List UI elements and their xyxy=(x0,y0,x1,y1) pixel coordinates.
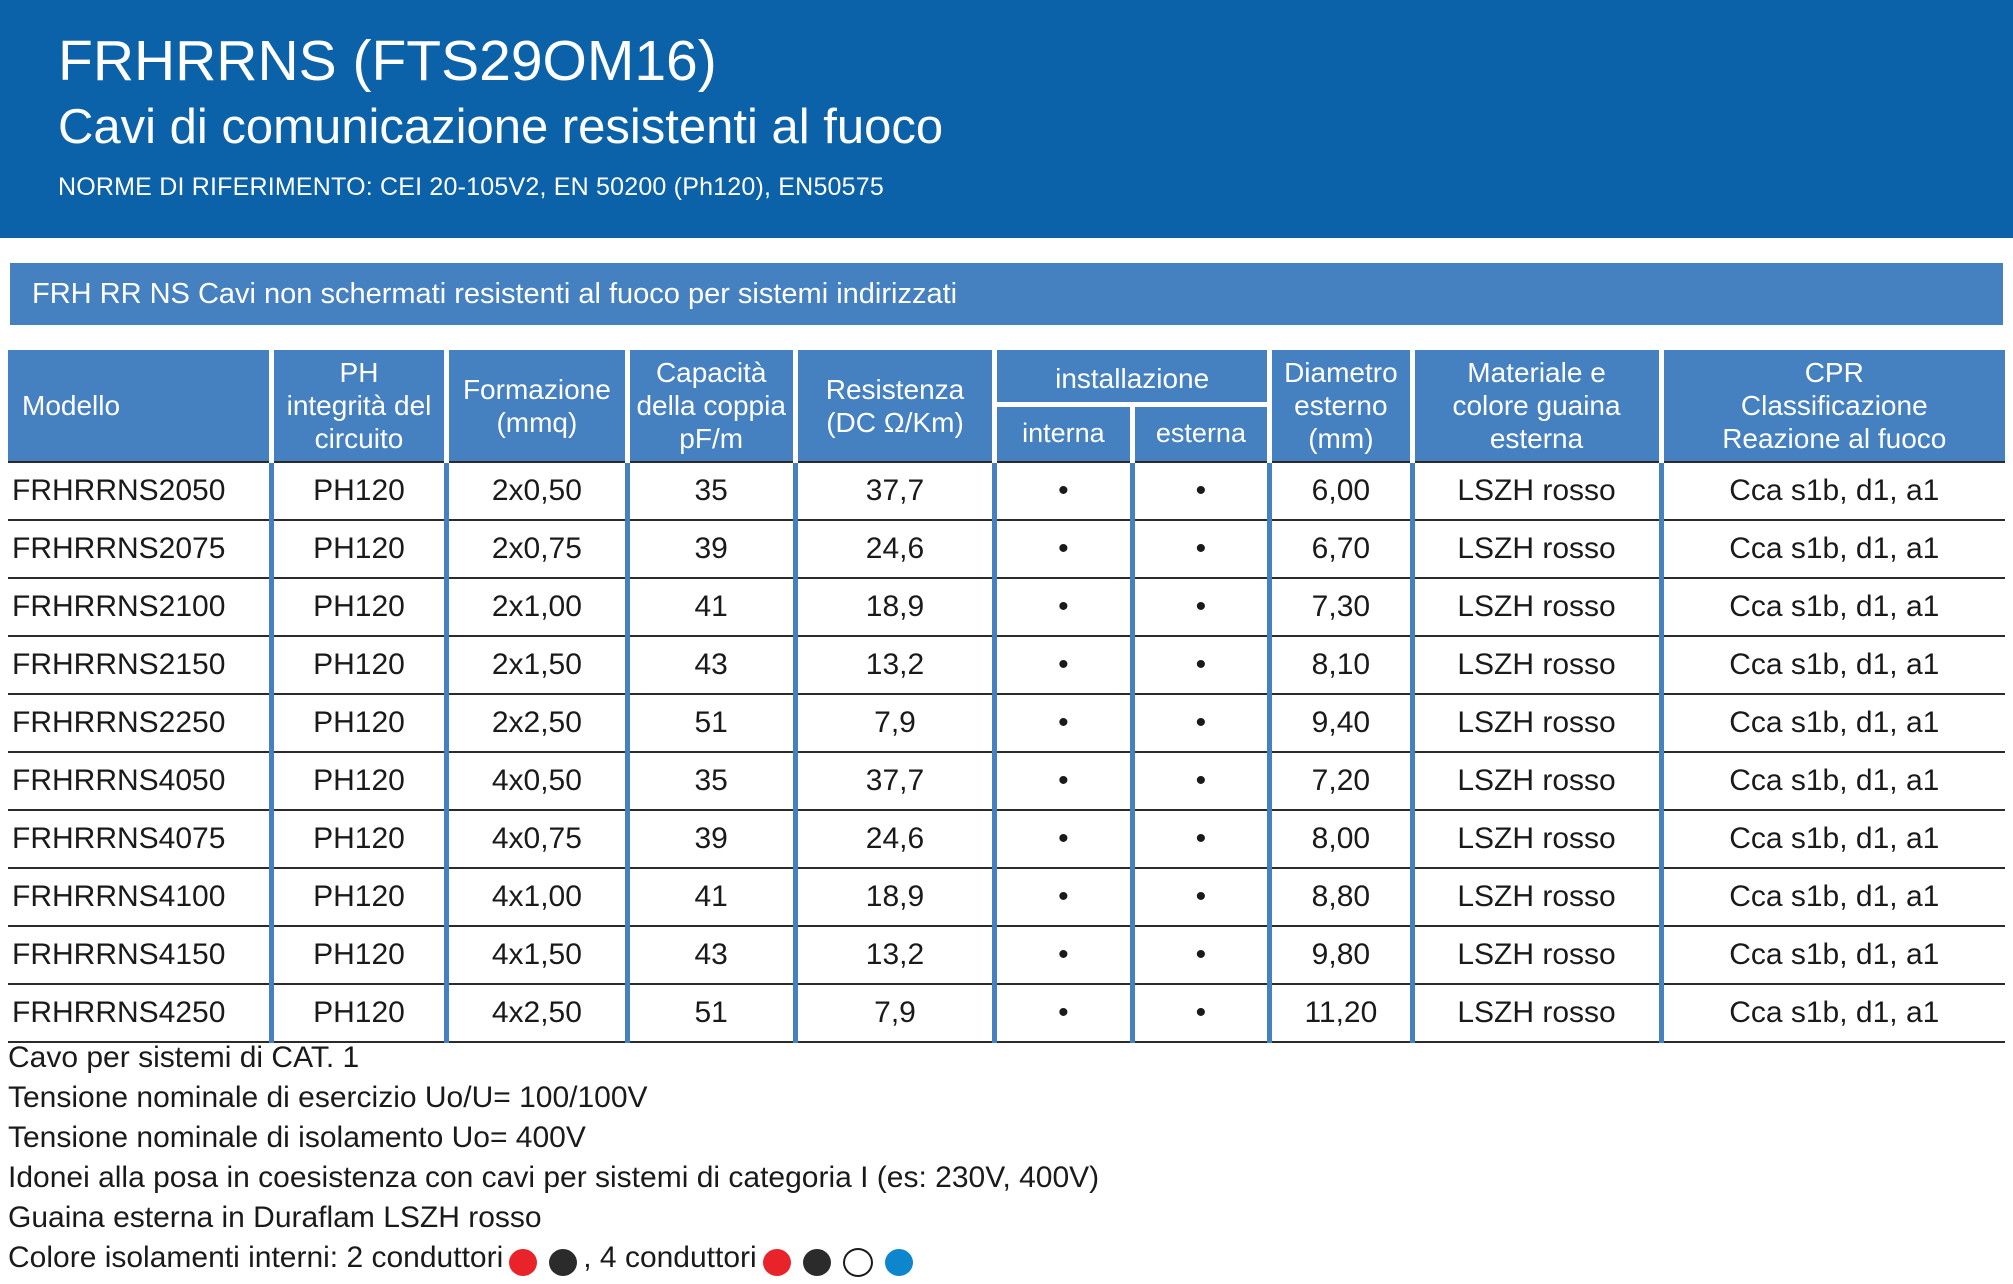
cell-diametro: 9,40 xyxy=(1270,694,1412,752)
cell-materiale: LSZH rosso xyxy=(1412,520,1661,578)
conductor-color-dot-red xyxy=(509,1249,537,1276)
col-header-capacita-line1: Capacità xyxy=(632,356,791,389)
cell-ph: PH120 xyxy=(271,462,447,520)
table-head: Modello PH integrità del circuito Formaz… xyxy=(8,350,2005,462)
cell-cpr: Cca s1b, d1, a1 xyxy=(1661,868,2005,926)
conductor-color-dot-white xyxy=(843,1248,873,1277)
cell-interna: • xyxy=(995,636,1133,694)
installation-dot-icon: • xyxy=(1058,532,1069,565)
installation-dot-icon: • xyxy=(1196,938,1207,971)
note-line-1: Cavo per sistemi di CAT. 1 xyxy=(8,1038,1998,1078)
cell-esterna: • xyxy=(1132,462,1270,520)
installation-dot-icon: • xyxy=(1196,822,1207,855)
col-header-materiale-line3: esterna xyxy=(1417,422,1657,455)
conductor-color-dot-black xyxy=(549,1249,577,1276)
cell-capacita: 39 xyxy=(627,520,795,578)
note-conductor-colors-prefix: Colore isolamenti interni: 2 conduttori xyxy=(8,1241,503,1274)
col-header-materiale: Materiale e colore guaina esterna xyxy=(1412,350,1661,462)
cell-interna: • xyxy=(995,520,1133,578)
cell-interna: • xyxy=(995,926,1133,984)
cell-formazione: 2x2,50 xyxy=(447,694,627,752)
cell-materiale: LSZH rosso xyxy=(1412,694,1661,752)
cell-modello: FRHRRNS4150 xyxy=(8,926,271,984)
cell-diametro: 6,00 xyxy=(1270,462,1412,520)
table-row: FRHRRNS2150PH1202x1,504313,2••8,10LSZH r… xyxy=(8,636,2005,694)
cell-resistenza: 13,2 xyxy=(795,636,994,694)
col-header-modello-label: Modello xyxy=(22,390,120,421)
cell-cpr: Cca s1b, d1, a1 xyxy=(1661,694,2005,752)
cell-esterna: • xyxy=(1132,520,1270,578)
col-header-resistenza: Resistenza (DC Ω/Km) xyxy=(795,350,994,462)
col-header-materiale-line1: Materiale e xyxy=(1417,356,1657,389)
cell-cpr: Cca s1b, d1, a1 xyxy=(1661,810,2005,868)
notes-block: Cavo per sistemi di CAT. 1 Tensione nomi… xyxy=(8,1038,1998,1281)
spec-table-container: Modello PH integrità del circuito Formaz… xyxy=(8,350,2005,1043)
cell-interna: • xyxy=(995,694,1133,752)
cell-ph: PH120 xyxy=(271,810,447,868)
col-header-capacita: Capacità della coppia pF/m xyxy=(627,350,795,462)
page-subtitle: Cavi di comunicazione resistenti al fuoc… xyxy=(58,96,2013,158)
cell-diametro: 7,30 xyxy=(1270,578,1412,636)
cell-materiale: LSZH rosso xyxy=(1412,578,1661,636)
cell-modello: FRHRRNS4050 xyxy=(8,752,271,810)
table-row: FRHRRNS4150PH1204x1,504313,2••9,80LSZH r… xyxy=(8,926,2005,984)
cell-esterna: • xyxy=(1132,752,1270,810)
cell-diametro: 8,10 xyxy=(1270,636,1412,694)
cell-diametro: 8,80 xyxy=(1270,868,1412,926)
cell-capacita: 51 xyxy=(627,694,795,752)
cell-formazione: 2x1,50 xyxy=(447,636,627,694)
table-row: FRHRRNS2250PH1202x2,50517,9••9,40LSZH ro… xyxy=(8,694,2005,752)
cell-ph: PH120 xyxy=(271,984,447,1042)
cell-cpr: Cca s1b, d1, a1 xyxy=(1661,462,2005,520)
cell-modello: FRHRRNS2100 xyxy=(8,578,271,636)
cell-interna: • xyxy=(995,578,1133,636)
cell-materiale: LSZH rosso xyxy=(1412,636,1661,694)
table-row: FRHRRNS2050PH1202x0,503537,7••6,00LSZH r… xyxy=(8,462,2005,520)
note-line-2: Tensione nominale di esercizio Uo/U= 100… xyxy=(8,1078,1998,1118)
cell-esterna: • xyxy=(1132,926,1270,984)
installation-dot-icon: • xyxy=(1196,532,1207,565)
col-header-materiale-line2: colore guaina xyxy=(1417,389,1657,422)
installation-dot-icon: • xyxy=(1058,648,1069,681)
conductor-color-dot-black xyxy=(803,1249,831,1276)
cell-ph: PH120 xyxy=(271,636,447,694)
cell-cpr: Cca s1b, d1, a1 xyxy=(1661,578,2005,636)
cell-formazione: 4x1,00 xyxy=(447,868,627,926)
cell-cpr: Cca s1b, d1, a1 xyxy=(1661,926,2005,984)
cell-capacita: 35 xyxy=(627,462,795,520)
cell-modello: FRHRRNS2050 xyxy=(8,462,271,520)
note-conductor-colors-middle: , 4 conduttori xyxy=(583,1241,756,1274)
col-header-cpr-line3: Reazione al fuoco xyxy=(1666,422,2003,455)
cell-ph: PH120 xyxy=(271,868,447,926)
cell-formazione: 4x1,50 xyxy=(447,926,627,984)
cell-diametro: 6,70 xyxy=(1270,520,1412,578)
installation-dot-icon: • xyxy=(1196,764,1207,797)
col-header-capacita-line2: della coppia xyxy=(632,389,791,422)
cell-formazione: 2x0,75 xyxy=(447,520,627,578)
cell-materiale: LSZH rosso xyxy=(1412,810,1661,868)
cell-esterna: • xyxy=(1132,636,1270,694)
cell-resistenza: 7,9 xyxy=(795,984,994,1042)
table-header-row-1: Modello PH integrità del circuito Formaz… xyxy=(8,350,2005,404)
table-row: FRHRRNS4100PH1204x1,004118,9••8,80LSZH r… xyxy=(8,868,2005,926)
col-header-installazione-esterna: esterna xyxy=(1132,404,1270,462)
col-header-ph-line1: PH xyxy=(276,356,443,389)
page-header: FRHRRNS (FTS29OM16) Cavi di comunicazion… xyxy=(0,0,2013,238)
cell-modello: FRHRRNS4100 xyxy=(8,868,271,926)
installation-dot-icon: • xyxy=(1196,648,1207,681)
cell-diametro: 9,80 xyxy=(1270,926,1412,984)
cell-modello: FRHRRNS4250 xyxy=(8,984,271,1042)
col-header-diametro-line2: esterno xyxy=(1274,389,1407,422)
cell-esterna: • xyxy=(1132,578,1270,636)
installation-dot-icon: • xyxy=(1196,590,1207,623)
col-header-capacita-line3: pF/m xyxy=(632,422,791,455)
cell-cpr: Cca s1b, d1, a1 xyxy=(1661,636,2005,694)
cell-modello: FRHRRNS2250 xyxy=(8,694,271,752)
conductor-color-dot-red xyxy=(763,1249,791,1276)
col-header-ph-line3: circuito xyxy=(276,422,443,455)
col-header-installazione-interna: interna xyxy=(995,404,1133,462)
installation-dot-icon: • xyxy=(1058,822,1069,855)
cell-materiale: LSZH rosso xyxy=(1412,926,1661,984)
cell-interna: • xyxy=(995,868,1133,926)
cell-resistenza: 24,6 xyxy=(795,520,994,578)
col-header-formazione-line1: Formazione xyxy=(451,373,622,406)
cell-capacita: 43 xyxy=(627,636,795,694)
cell-materiale: LSZH rosso xyxy=(1412,868,1661,926)
cell-materiale: LSZH rosso xyxy=(1412,462,1661,520)
cell-interna: • xyxy=(995,752,1133,810)
cell-formazione: 4x2,50 xyxy=(447,984,627,1042)
col-header-resistenza-line1: Resistenza xyxy=(800,373,990,406)
cell-modello: FRHRRNS2150 xyxy=(8,636,271,694)
cell-esterna: • xyxy=(1132,868,1270,926)
table-row: FRHRRNS4050PH1204x0,503537,7••7,20LSZH r… xyxy=(8,752,2005,810)
cell-cpr: Cca s1b, d1, a1 xyxy=(1661,520,2005,578)
table-body: FRHRRNS2050PH1202x0,503537,7••6,00LSZH r… xyxy=(8,462,2005,1042)
cell-interna: • xyxy=(995,984,1133,1042)
cell-resistenza: 37,7 xyxy=(795,462,994,520)
cell-formazione: 4x0,50 xyxy=(447,752,627,810)
installation-dot-icon: • xyxy=(1058,996,1069,1029)
installation-dot-icon: • xyxy=(1196,996,1207,1029)
cell-ph: PH120 xyxy=(271,926,447,984)
cell-ph: PH120 xyxy=(271,578,447,636)
col-header-diametro-line1: Diametro xyxy=(1274,356,1407,389)
conductor-color-dot-blue xyxy=(885,1249,913,1276)
cell-capacita: 43 xyxy=(627,926,795,984)
cell-ph: PH120 xyxy=(271,694,447,752)
col-header-cpr: CPR Classificazione Reazione al fuoco xyxy=(1661,350,2005,462)
cell-formazione: 2x1,00 xyxy=(447,578,627,636)
cell-formazione: 4x0,75 xyxy=(447,810,627,868)
cell-interna: • xyxy=(995,810,1133,868)
col-header-ph-line2: integrità del xyxy=(276,389,443,422)
installation-dot-icon: • xyxy=(1058,590,1069,623)
cell-diametro: 11,20 xyxy=(1270,984,1412,1042)
col-header-modello: Modello xyxy=(8,350,271,462)
section-band: FRH RR NS Cavi non schermati resistenti … xyxy=(10,263,2003,325)
cell-resistenza: 18,9 xyxy=(795,578,994,636)
col-header-formazione-line2: (mmq) xyxy=(451,406,622,439)
table-row: FRHRRNS2075PH1202x0,753924,6••6,70LSZH r… xyxy=(8,520,2005,578)
installation-dot-icon: • xyxy=(1058,474,1069,507)
cell-resistenza: 37,7 xyxy=(795,752,994,810)
cell-materiale: LSZH rosso xyxy=(1412,752,1661,810)
cell-ph: PH120 xyxy=(271,752,447,810)
cell-formazione: 2x0,50 xyxy=(447,462,627,520)
installation-dot-icon: • xyxy=(1196,706,1207,739)
cell-resistenza: 7,9 xyxy=(795,694,994,752)
cell-capacita: 51 xyxy=(627,984,795,1042)
cell-esterna: • xyxy=(1132,694,1270,752)
cell-capacita: 39 xyxy=(627,810,795,868)
col-header-ph: PH integrità del circuito xyxy=(271,350,447,462)
col-header-formazione: Formazione (mmq) xyxy=(447,350,627,462)
installation-dot-icon: • xyxy=(1058,764,1069,797)
reference-standards: NORME DI RIFERIMENTO: CEI 20-105V2, EN 5… xyxy=(58,170,2013,204)
col-header-installazione-label: installazione xyxy=(1055,363,1209,394)
table-row: FRHRRNS4250PH1204x2,50517,9••11,20LSZH r… xyxy=(8,984,2005,1042)
col-header-cpr-line2: Classificazione xyxy=(1666,389,2003,422)
col-header-diametro-line3: (mm) xyxy=(1274,422,1407,455)
cell-capacita: 35 xyxy=(627,752,795,810)
conductor-colors-4 xyxy=(757,1241,919,1281)
cell-modello: FRHRRNS4075 xyxy=(8,810,271,868)
page-title: FRHRRNS (FTS29OM16) xyxy=(58,26,2013,96)
installation-dot-icon: • xyxy=(1196,474,1207,507)
cell-resistenza: 24,6 xyxy=(795,810,994,868)
cell-esterna: • xyxy=(1132,810,1270,868)
col-header-cpr-line1: CPR xyxy=(1666,356,2003,389)
table-row: FRHRRNS4075PH1204x0,753924,6••8,00LSZH r… xyxy=(8,810,2005,868)
cell-diametro: 8,00 xyxy=(1270,810,1412,868)
col-header-diametro: Diametro esterno (mm) xyxy=(1270,350,1412,462)
table-row: FRHRRNS2100PH1202x1,004118,9••7,30LSZH r… xyxy=(8,578,2005,636)
installation-dot-icon: • xyxy=(1058,938,1069,971)
installation-dot-icon: • xyxy=(1196,880,1207,913)
spec-table: Modello PH integrità del circuito Formaz… xyxy=(8,350,2005,1043)
cell-interna: • xyxy=(995,462,1133,520)
cell-materiale: LSZH rosso xyxy=(1412,984,1661,1042)
cell-diametro: 7,20 xyxy=(1270,752,1412,810)
note-line-6: Colore isolamenti interni: 2 conduttori,… xyxy=(8,1238,1998,1281)
col-header-installazione: installazione xyxy=(995,350,1270,404)
cell-capacita: 41 xyxy=(627,578,795,636)
note-line-5: Guaina esterna in Duraflam LSZH rosso xyxy=(8,1198,1998,1238)
installation-dot-icon: • xyxy=(1058,880,1069,913)
note-line-3: Tensione nominale di isolamento Uo= 400V xyxy=(8,1118,1998,1158)
installation-dot-icon: • xyxy=(1058,706,1069,739)
cell-capacita: 41 xyxy=(627,868,795,926)
conductor-colors-2 xyxy=(503,1241,583,1281)
col-header-resistenza-line2: (DC Ω/Km) xyxy=(800,406,990,439)
cell-resistenza: 13,2 xyxy=(795,926,994,984)
cell-cpr: Cca s1b, d1, a1 xyxy=(1661,752,2005,810)
cell-resistenza: 18,9 xyxy=(795,868,994,926)
cell-cpr: Cca s1b, d1, a1 xyxy=(1661,984,2005,1042)
cell-esterna: • xyxy=(1132,984,1270,1042)
cell-ph: PH120 xyxy=(271,520,447,578)
cell-modello: FRHRRNS2075 xyxy=(8,520,271,578)
note-line-4: Idonei alla posa in coesistenza con cavi… xyxy=(8,1158,1998,1198)
